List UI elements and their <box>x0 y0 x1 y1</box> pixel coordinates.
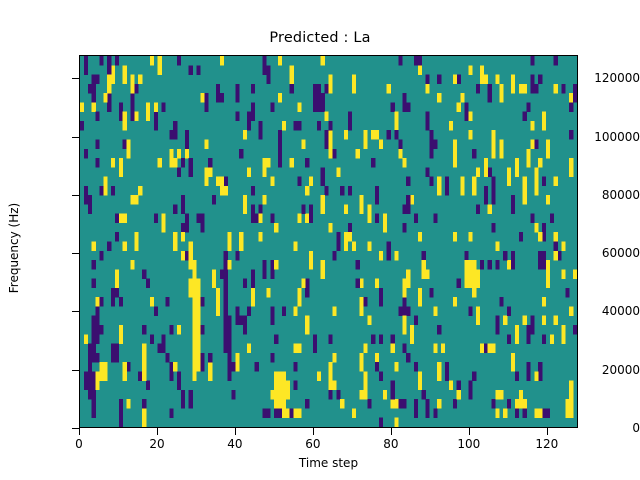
heatmap-cell <box>511 260 515 270</box>
heatmap-cell <box>402 297 406 307</box>
heatmap-cell <box>142 325 146 335</box>
heatmap-cell <box>259 214 263 224</box>
heatmap-cell <box>282 390 286 400</box>
heatmap-cell <box>173 204 177 214</box>
heatmap-cell <box>546 195 550 205</box>
heatmap-cell <box>193 325 197 335</box>
heatmap-cell <box>414 316 418 326</box>
heatmap-cell <box>484 186 488 196</box>
y-tick-label: 40000 <box>574 304 640 318</box>
heatmap-cell <box>243 279 247 289</box>
heatmap-cell <box>123 242 127 252</box>
heatmap-cell <box>468 130 472 140</box>
heatmap-cell <box>367 214 371 224</box>
heatmap-cell <box>484 75 488 85</box>
heatmap-cell <box>309 204 313 214</box>
heatmap-cell <box>363 297 367 307</box>
heatmap-cell <box>398 139 402 149</box>
heatmap-cell <box>569 399 573 409</box>
heatmap-cell <box>437 325 441 335</box>
heatmap-cell <box>371 158 375 168</box>
heatmap-cell <box>251 214 255 224</box>
heatmap-cell <box>523 186 527 196</box>
heatmap-cell <box>228 325 232 335</box>
heatmap-cell <box>402 223 406 233</box>
heatmap-cell <box>282 306 286 316</box>
heatmap-cell <box>546 279 550 289</box>
heatmap-cell <box>464 269 468 279</box>
heatmap-cell <box>360 362 364 372</box>
heatmap-cell <box>142 353 146 363</box>
heatmap-cell <box>530 316 534 326</box>
heatmap-cell <box>297 121 301 131</box>
heatmap-cell <box>262 167 266 177</box>
heatmap-cell <box>348 223 352 233</box>
heatmap-cell <box>367 399 371 409</box>
heatmap-cell <box>119 102 123 112</box>
heatmap-cell <box>142 408 146 418</box>
heatmap-cell <box>402 288 406 298</box>
heatmap-cell <box>290 84 294 94</box>
heatmap-cell <box>196 288 200 298</box>
heatmap-cell <box>150 56 154 66</box>
heatmap-cell <box>255 214 259 224</box>
heatmap-cell <box>348 121 352 131</box>
heatmap-cell <box>200 297 204 307</box>
heatmap-cell <box>177 149 181 159</box>
heatmap-cell <box>173 232 177 242</box>
heatmap-cell <box>189 167 193 177</box>
heatmap-cell <box>130 112 134 122</box>
heatmap-cell <box>123 362 127 372</box>
heatmap-cell <box>92 260 96 270</box>
heatmap-cell <box>130 260 134 270</box>
heatmap-cell <box>204 177 208 187</box>
heatmap-cell <box>484 158 488 168</box>
heatmap-cell <box>329 334 333 344</box>
heatmap-cell <box>169 325 173 335</box>
heatmap-cell <box>96 353 100 363</box>
heatmap-cell <box>313 102 317 112</box>
heatmap-cell <box>472 288 476 298</box>
heatmap-cell <box>107 75 111 85</box>
heatmap-cell <box>395 251 399 261</box>
heatmap-cell <box>523 399 527 409</box>
heatmap-cell <box>538 158 542 168</box>
heatmap-cell <box>99 251 103 261</box>
heatmap-cell <box>383 390 387 400</box>
heatmap-cell <box>472 149 476 159</box>
heatmap-cell <box>119 418 123 427</box>
heatmap-cell <box>274 260 278 270</box>
y-tick-label: 20000 <box>574 363 640 377</box>
heatmap-cell <box>387 242 391 252</box>
heatmap-cell <box>228 242 232 252</box>
heatmap-cell <box>476 279 480 289</box>
heatmap-cell <box>84 56 88 66</box>
heatmap-cell <box>251 84 255 94</box>
heatmap-cell <box>515 334 519 344</box>
heatmap-cell <box>266 408 270 418</box>
heatmap-cell <box>305 325 309 335</box>
heatmap-cell <box>103 93 107 103</box>
heatmap-cell <box>453 297 457 307</box>
heatmap-cell <box>418 232 422 242</box>
heatmap-cell <box>274 408 278 418</box>
heatmap-cell <box>278 371 282 381</box>
heatmap-cell <box>495 75 499 85</box>
heatmap-cell <box>193 279 197 289</box>
heatmap-cell <box>569 93 573 103</box>
x-tick-mark <box>313 428 314 435</box>
heatmap-cell <box>375 186 379 196</box>
heatmap-cell <box>313 93 317 103</box>
heatmap-cell <box>352 242 356 252</box>
heatmap-cell <box>379 418 383 427</box>
heatmap-cell <box>472 371 476 381</box>
heatmap-cell <box>406 269 410 279</box>
heatmap-cell <box>398 56 402 66</box>
heatmap-cell <box>329 362 333 372</box>
heatmap-cell <box>402 399 406 409</box>
heatmap-cell <box>88 195 92 205</box>
heatmap-cell <box>111 186 115 196</box>
heatmap-cell <box>107 65 111 75</box>
heatmap-cell <box>360 204 364 214</box>
heatmap-cell <box>103 362 107 372</box>
heatmap-cell <box>406 353 410 363</box>
heatmap-cell <box>301 139 305 149</box>
heatmap-cell <box>181 390 185 400</box>
heatmap-cell <box>154 112 158 122</box>
heatmap-cell <box>177 56 181 66</box>
heatmap-cell <box>546 269 550 279</box>
heatmap-cell <box>565 399 569 409</box>
heatmap-cell <box>196 306 200 316</box>
heatmap-cell <box>426 269 430 279</box>
heatmap-cell <box>251 102 255 112</box>
heatmap-cell <box>274 381 278 391</box>
heatmap-cell <box>367 316 371 326</box>
heatmap-cell <box>173 130 177 140</box>
heatmap-cell <box>107 93 111 103</box>
heatmap-cell <box>554 232 558 242</box>
heatmap-cell <box>472 269 476 279</box>
heatmap-cell <box>495 316 499 326</box>
heatmap-cell <box>251 204 255 214</box>
heatmap-cell <box>391 102 395 112</box>
heatmap-cell <box>422 390 426 400</box>
heatmap-cell <box>426 84 430 94</box>
heatmap-cell <box>523 112 527 122</box>
heatmap-cell <box>426 399 430 409</box>
heatmap-cell <box>321 56 325 66</box>
heatmap-cell <box>251 279 255 289</box>
heatmap-cell <box>348 112 352 122</box>
heatmap-cell <box>336 390 340 400</box>
heatmap-cell <box>262 56 266 66</box>
heatmap-cell <box>301 279 305 289</box>
heatmap-cell <box>96 334 100 344</box>
heatmap-cell <box>111 288 115 298</box>
heatmap-cell <box>398 149 402 159</box>
heatmap-cell <box>196 344 200 354</box>
heatmap-cell <box>154 214 158 224</box>
heatmap-cell <box>565 408 569 418</box>
heatmap-cell <box>468 232 472 242</box>
heatmap-cell <box>515 325 519 335</box>
heatmap-cell <box>499 84 503 94</box>
heatmap-cell <box>270 306 274 316</box>
heatmap-cell <box>142 418 146 427</box>
heatmap-cell <box>492 130 496 140</box>
heatmap-cell <box>92 344 96 354</box>
heatmap-cell <box>224 334 228 344</box>
heatmap-cell <box>546 139 550 149</box>
heatmap-cell <box>554 84 558 94</box>
heatmap-cell <box>189 399 193 409</box>
heatmap-cell <box>111 297 115 307</box>
heatmap-cell <box>511 204 515 214</box>
heatmap-cell <box>495 242 499 252</box>
heatmap-cell <box>445 186 449 196</box>
heatmap-cell <box>464 279 468 289</box>
heatmap-cell <box>204 102 208 112</box>
heatmap-cell <box>375 362 379 372</box>
heatmap-cell <box>488 204 492 214</box>
heatmap-cell <box>130 195 134 205</box>
heatmap-cell <box>193 306 197 316</box>
heatmap-cell <box>189 390 193 400</box>
heatmap-cell <box>344 204 348 214</box>
heatmap-cell <box>200 214 204 224</box>
heatmap-cell <box>329 75 333 85</box>
heatmap-cell <box>464 260 468 270</box>
heatmap-cell <box>530 56 534 66</box>
heatmap-cell <box>251 297 255 307</box>
heatmap-cell <box>107 242 111 252</box>
heatmap-cell <box>169 362 173 372</box>
heatmap-cell <box>146 279 150 289</box>
heatmap-cell <box>177 167 181 177</box>
heatmap-cell <box>530 75 534 85</box>
heatmap-cell <box>569 158 573 168</box>
x-tick-mark <box>79 428 80 435</box>
heatmap-cell <box>224 325 228 335</box>
heatmap-cell <box>542 408 546 418</box>
heatmap-cell <box>177 371 181 381</box>
heatmap-cell <box>321 167 325 177</box>
heatmap-cell <box>480 75 484 85</box>
heatmap-cell <box>220 56 224 66</box>
heatmap-cell <box>321 102 325 112</box>
heatmap-cell <box>542 316 546 326</box>
heatmap-cell <box>558 251 562 261</box>
heatmap-cell <box>290 65 294 75</box>
heatmap-cell <box>88 204 92 214</box>
heatmap-cell <box>538 75 542 85</box>
heatmap-cell <box>530 139 534 149</box>
heatmap-cell <box>550 334 554 344</box>
heatmap-cell <box>348 232 352 242</box>
heatmap-cell <box>305 316 309 326</box>
heatmap-cell <box>534 84 538 94</box>
heatmap-cell <box>111 344 115 354</box>
heatmap-cell <box>492 223 496 233</box>
heatmap-cell <box>119 325 123 335</box>
heatmap-cell <box>527 158 531 168</box>
heatmap-cell <box>270 316 274 326</box>
x-tick-mark <box>235 428 236 435</box>
heatmap-cell <box>274 371 278 381</box>
heatmap-cell <box>185 139 189 149</box>
heatmap-cell <box>363 130 367 140</box>
heatmap-cell <box>321 204 325 214</box>
heatmap-cell <box>169 149 173 159</box>
heatmap-cell <box>130 102 134 112</box>
heatmap-cell <box>395 121 399 131</box>
heatmap-cell <box>200 353 204 363</box>
heatmap-cell <box>305 158 309 168</box>
heatmap-cell <box>445 362 449 372</box>
heatmap-cell <box>437 399 441 409</box>
heatmap-cell <box>309 251 313 261</box>
heatmap-cell <box>398 399 402 409</box>
heatmap-cell <box>480 260 484 270</box>
heatmap-cell <box>119 334 123 344</box>
heatmap-cell <box>200 362 204 372</box>
heatmap-cell <box>247 167 251 177</box>
heatmap-cell <box>200 223 204 233</box>
heatmap-cell <box>111 75 115 85</box>
heatmap-cell <box>538 232 542 242</box>
heatmap-cell <box>146 381 150 391</box>
heatmap-cell <box>321 260 325 270</box>
x-tick-label: 60 <box>283 437 343 451</box>
x-tick-label: 80 <box>361 437 421 451</box>
heatmap-cell <box>247 306 251 316</box>
heatmap-cell <box>107 56 111 66</box>
heatmap-cell <box>332 381 336 391</box>
heatmap-cell <box>278 139 282 149</box>
heatmap-cell <box>216 84 220 94</box>
heatmap-cell <box>437 177 441 187</box>
heatmap-grid <box>80 56 577 427</box>
heatmap-cell <box>332 149 336 159</box>
heatmap-cell <box>150 297 154 307</box>
heatmap-cell <box>530 214 534 224</box>
heatmap-cell <box>216 297 220 307</box>
heatmap-cell <box>92 399 96 409</box>
heatmap-cell <box>410 195 414 205</box>
heatmap-cell <box>391 390 395 400</box>
heatmap-cell <box>150 334 154 344</box>
x-tick-mark <box>391 428 392 435</box>
heatmap-cell <box>235 251 239 261</box>
heatmap-cell <box>96 75 100 85</box>
heatmap-cell <box>282 121 286 131</box>
heatmap-cell <box>270 102 274 112</box>
heatmap-cell <box>88 353 92 363</box>
heatmap-cell <box>247 121 251 131</box>
heatmap-cell <box>503 251 507 261</box>
heatmap-axes <box>79 55 578 428</box>
heatmap-cell <box>379 288 383 298</box>
heatmap-cell <box>107 102 111 112</box>
heatmap-cell <box>375 279 379 289</box>
heatmap-cell <box>262 195 266 205</box>
heatmap-cell <box>251 269 255 279</box>
heatmap-cell <box>196 353 200 363</box>
heatmap-cell <box>511 251 515 261</box>
heatmap-cell <box>418 56 422 66</box>
heatmap-cell <box>530 325 534 335</box>
heatmap-cell <box>259 232 263 242</box>
heatmap-cell <box>278 381 282 391</box>
heatmap-cell <box>360 306 364 316</box>
heatmap-cell <box>515 399 519 409</box>
heatmap-cell <box>395 130 399 140</box>
heatmap-cell <box>185 223 189 233</box>
heatmap-cell <box>433 306 437 316</box>
heatmap-cell <box>305 279 309 289</box>
heatmap-cell <box>375 214 379 224</box>
heatmap-cell <box>193 260 197 270</box>
heatmap-cell <box>503 316 507 326</box>
heatmap-cell <box>523 177 527 187</box>
heatmap-cell <box>515 408 519 418</box>
heatmap-cell <box>115 214 119 224</box>
heatmap-cell <box>371 334 375 344</box>
heatmap-cell <box>130 75 134 85</box>
heatmap-cell <box>99 186 103 196</box>
heatmap-cell <box>542 121 546 131</box>
heatmap-cell <box>569 408 573 418</box>
heatmap-cell <box>395 399 399 409</box>
heatmap-cell <box>340 186 344 196</box>
heatmap-cell <box>224 260 228 270</box>
heatmap-cell <box>231 362 235 372</box>
heatmap-cell <box>270 260 274 270</box>
heatmap-cell <box>154 306 158 316</box>
heatmap-cell <box>375 130 379 140</box>
heatmap-cell <box>220 93 224 103</box>
heatmap-cell <box>165 297 169 307</box>
heatmap-cell <box>527 102 531 112</box>
heatmap-cell <box>387 84 391 94</box>
heatmap-cell <box>464 251 468 261</box>
heatmap-cell <box>216 93 220 103</box>
heatmap-cell <box>422 251 426 261</box>
heatmap-cell <box>196 65 200 75</box>
heatmap-cell <box>189 65 193 75</box>
heatmap-cell <box>546 408 550 418</box>
heatmap-cell <box>228 334 232 344</box>
heatmap-cell <box>169 408 173 418</box>
heatmap-cell <box>561 84 565 94</box>
heatmap-cell <box>468 269 472 279</box>
heatmap-cell <box>453 158 457 168</box>
heatmap-cell <box>476 204 480 214</box>
heatmap-cell <box>573 325 577 335</box>
heatmap-cell <box>220 186 224 196</box>
heatmap-cell <box>426 408 430 418</box>
heatmap-cell <box>99 362 103 372</box>
y-tick-label: 100000 <box>574 130 640 144</box>
heatmap-cell <box>441 344 445 354</box>
heatmap-cell <box>476 269 480 279</box>
heatmap-cell <box>208 167 212 177</box>
